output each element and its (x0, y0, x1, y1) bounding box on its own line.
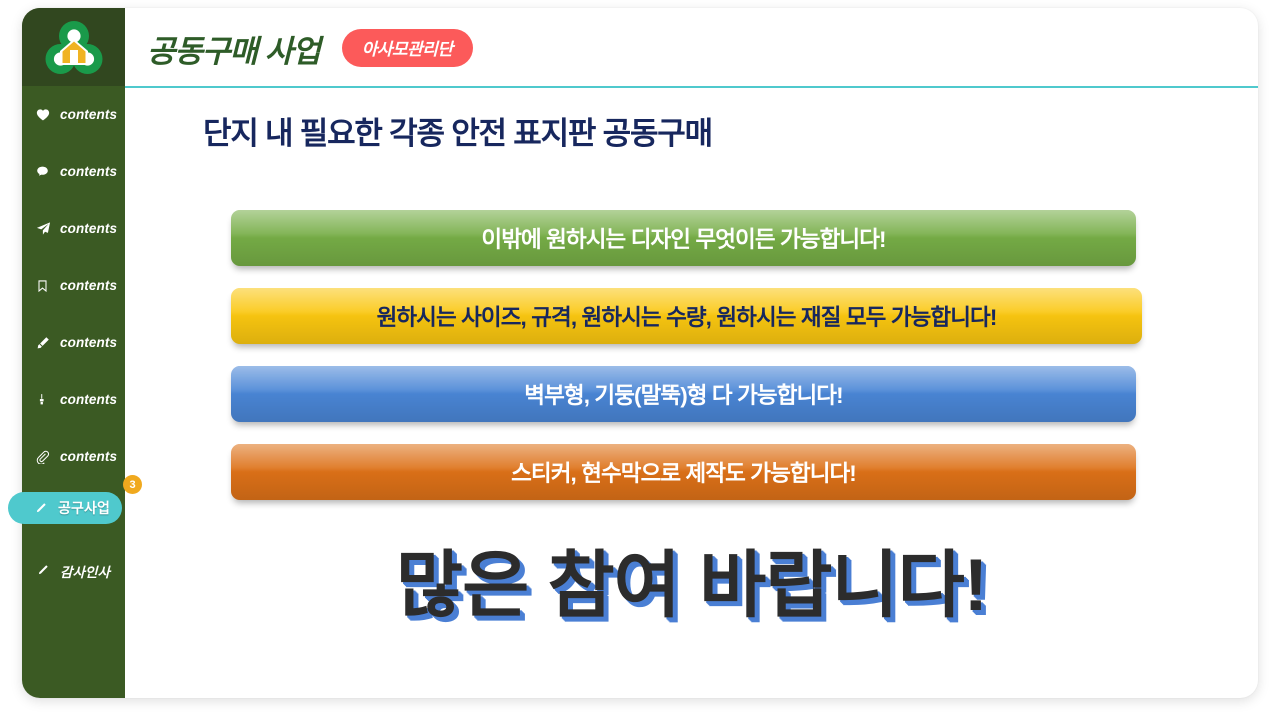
paperclip-icon (36, 448, 56, 466)
bookmark-icon (36, 277, 56, 295)
highlighter-icon (36, 334, 56, 352)
sidebar-item-gonggu-saeop[interactable]: 공구사업 3 (22, 485, 125, 542)
sidebar-item-label: contents (60, 107, 117, 122)
feature-bar-size-spec: 원하시는 사이즈, 규격, 원하시는 수량, 원하시는 재질 모두 가능합니다! (231, 288, 1142, 344)
header-divider (125, 86, 1258, 88)
sidebar-item-label: contents (60, 335, 117, 350)
sidebar-item-label: contents (60, 392, 117, 407)
sidebar-item-badge: 3 (123, 475, 142, 494)
active-pointer-arrow-icon (135, 498, 148, 518)
paper-plane-icon (36, 220, 56, 238)
sidebar-item-gamsa-insa[interactable]: 감사인사 (22, 542, 125, 599)
sidebar-item-contents-2[interactable]: contents (22, 143, 125, 200)
sidebar-header (22, 8, 125, 86)
feature-bar-mount-type: 벽부형, 기둥(말뚝)형 다 가능합니다! (231, 366, 1136, 422)
feature-bar-sticker-banner: 스티커, 현수막으로 제작도 가능합니다! (231, 444, 1136, 500)
sidebar-item-contents-6[interactable]: contents (22, 371, 125, 428)
page-header: 공동구매 사업 아사모관리단 (125, 8, 1258, 88)
sidebar-item-label: contents (60, 164, 117, 179)
main-content: 단지 내 필요한 각종 안전 표지판 공동구매 이밖에 원하시는 디자인 무엇이… (125, 88, 1258, 698)
sidebar-item-contents-3[interactable]: contents (22, 200, 125, 257)
speech-dot-icon (36, 163, 56, 181)
feature-bar-design: 이밖에 원하시는 디자인 무엇이든 가능합니다! (231, 210, 1136, 266)
closing-call-to-action: 많은 참여 바랍니다! (125, 526, 1258, 632)
sidebar-menu: contents contents contents contents (22, 86, 125, 599)
section-heading: 단지 내 필요한 각종 안전 표지판 공동구매 (203, 108, 712, 153)
trefoil-house-logo (45, 20, 103, 76)
sidebar-active-pill[interactable]: 공구사업 (8, 492, 122, 524)
organization-badge: 아사모관리단 (342, 29, 473, 67)
sidebar-item-label: 감사인사 (60, 561, 110, 581)
pen-icon (34, 499, 54, 517)
page-title: 공동구매 사업 (147, 26, 320, 71)
feature-bar-list: 이밖에 원하시는 디자인 무엇이든 가능합니다! 원하시는 사이즈, 규격, 원… (231, 210, 1141, 522)
sidebar-item-contents-5[interactable]: contents (22, 314, 125, 371)
feature-bar-label: 벽부형, 기둥(말뚝)형 다 가능합니다! (524, 378, 842, 410)
sidebar-item-label: contents (60, 278, 117, 293)
pen-icon (36, 562, 56, 580)
sidebar-item-label: 공구사업 (58, 498, 110, 518)
sidebar-item-contents-7[interactable]: contents (22, 428, 125, 485)
sidebar-item-label: contents (60, 449, 117, 464)
sidebar-item-contents-1[interactable]: contents (22, 86, 125, 143)
feature-bar-label: 원하시는 사이즈, 규격, 원하시는 수량, 원하시는 재질 모두 가능합니다! (377, 300, 997, 332)
feature-bar-label: 스티커, 현수막으로 제작도 가능합니다! (511, 456, 856, 488)
heart-icon (36, 106, 56, 124)
feature-bar-label: 이밖에 원하시는 디자인 무엇이든 가능합니다! (481, 222, 885, 254)
slide-canvas: contents contents contents contents (0, 0, 1280, 720)
paintbrush-icon (36, 391, 56, 409)
sidebar: contents contents contents contents (22, 8, 125, 698)
sidebar-item-contents-4[interactable]: contents (22, 257, 125, 314)
sidebar-item-label: contents (60, 221, 117, 236)
